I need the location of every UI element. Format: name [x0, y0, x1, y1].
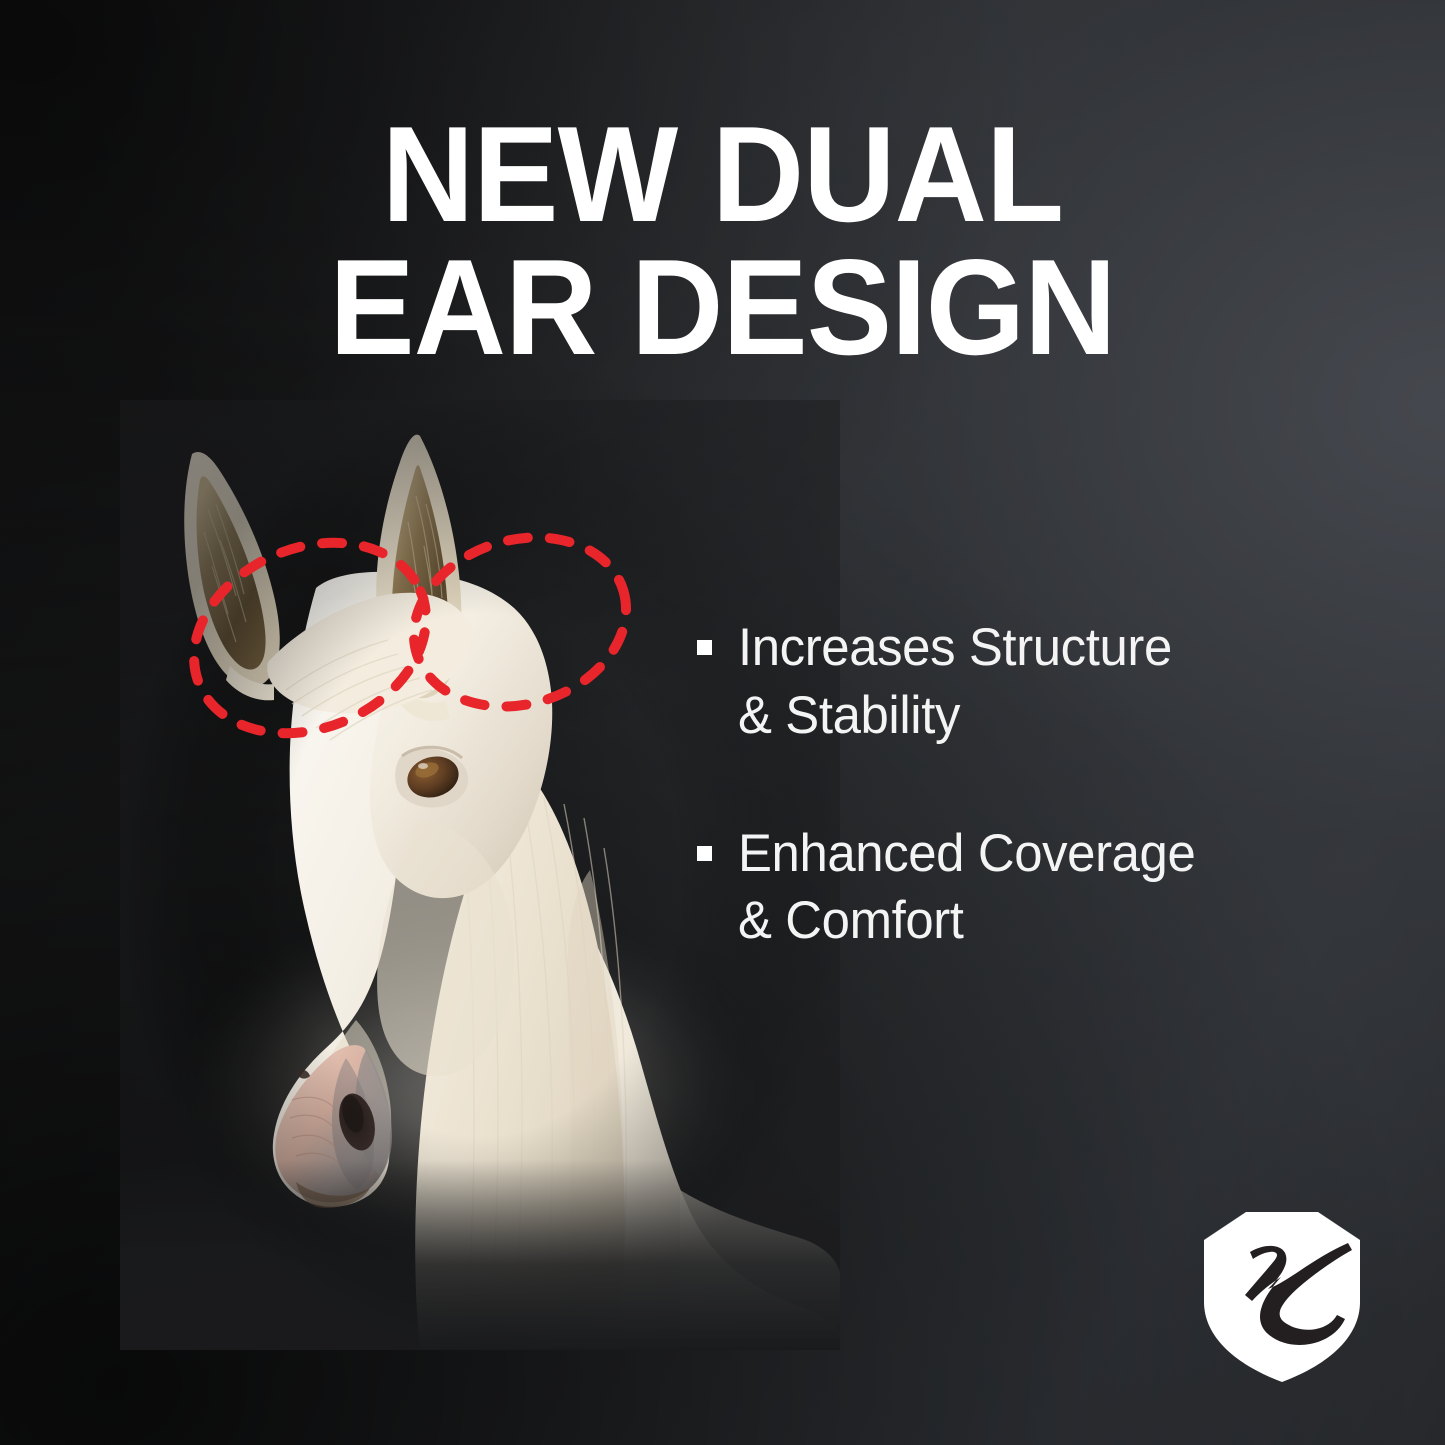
feature-text: Enhanced Coverage & Comfort — [738, 820, 1195, 956]
feature-text: Increases Structure & Stability — [738, 614, 1172, 750]
headline-line-1: NEW DUAL — [43, 108, 1401, 241]
shield-k-logo-icon — [1198, 1206, 1366, 1386]
list-item: Increases Structure & Stability — [697, 614, 1357, 750]
feature-list: Increases Structure & Stability Enhanced… — [697, 614, 1357, 955]
product-feature-poster: NEW DUAL EAR DESIGN Increases Structure … — [0, 0, 1445, 1445]
brand-logo — [1198, 1206, 1366, 1386]
square-bullet-icon — [697, 846, 712, 861]
square-bullet-icon — [697, 640, 712, 655]
list-item: Enhanced Coverage & Comfort — [697, 820, 1357, 956]
headline-line-2: EAR DESIGN — [43, 241, 1401, 374]
page-title: NEW DUAL EAR DESIGN — [43, 108, 1401, 375]
